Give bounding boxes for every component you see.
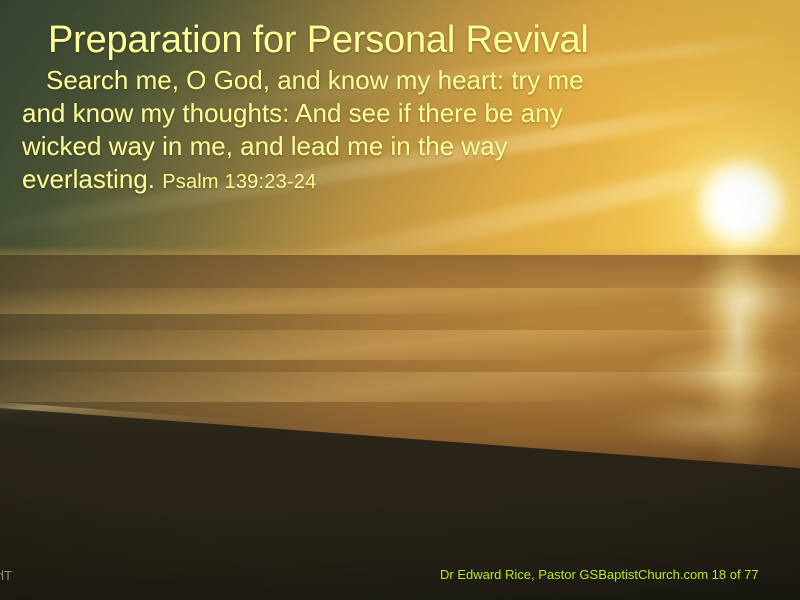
scripture-line-4: everlasting. Psalm 139:23-24: [22, 163, 682, 199]
horizon-line: [0, 246, 800, 280]
presentation-slide: Preparation for Personal Revival Search …: [0, 0, 800, 600]
scripture-reference: Psalm 139:23-24: [162, 171, 316, 193]
photo-credit-watermark: The Beach by Rebekah Rice May 2015: [0, 568, 12, 584]
scripture-line-4-text: everlasting.: [22, 164, 155, 194]
sea-background-image: [0, 255, 800, 470]
scripture-text-block: Search me, O God, and know my heart: try…: [22, 64, 682, 199]
scripture-line-2: and know my thoughts: And see if there b…: [22, 97, 682, 130]
scripture-line-3: wicked way in me, and lead me in the way: [22, 130, 682, 163]
shoreline-foam: [0, 396, 800, 486]
slide-title: Preparation for Personal Revival: [48, 18, 589, 62]
wave-band: [0, 288, 800, 314]
sea-shadow-overlay: [0, 255, 520, 470]
wave-band: [0, 372, 800, 402]
wave-band: [0, 330, 800, 360]
scripture-line-1: Search me, O God, and know my heart: try…: [22, 64, 682, 97]
presenter-footer-credit: Dr Edward Rice, Pastor GSBaptistChurch.c…: [440, 567, 759, 583]
